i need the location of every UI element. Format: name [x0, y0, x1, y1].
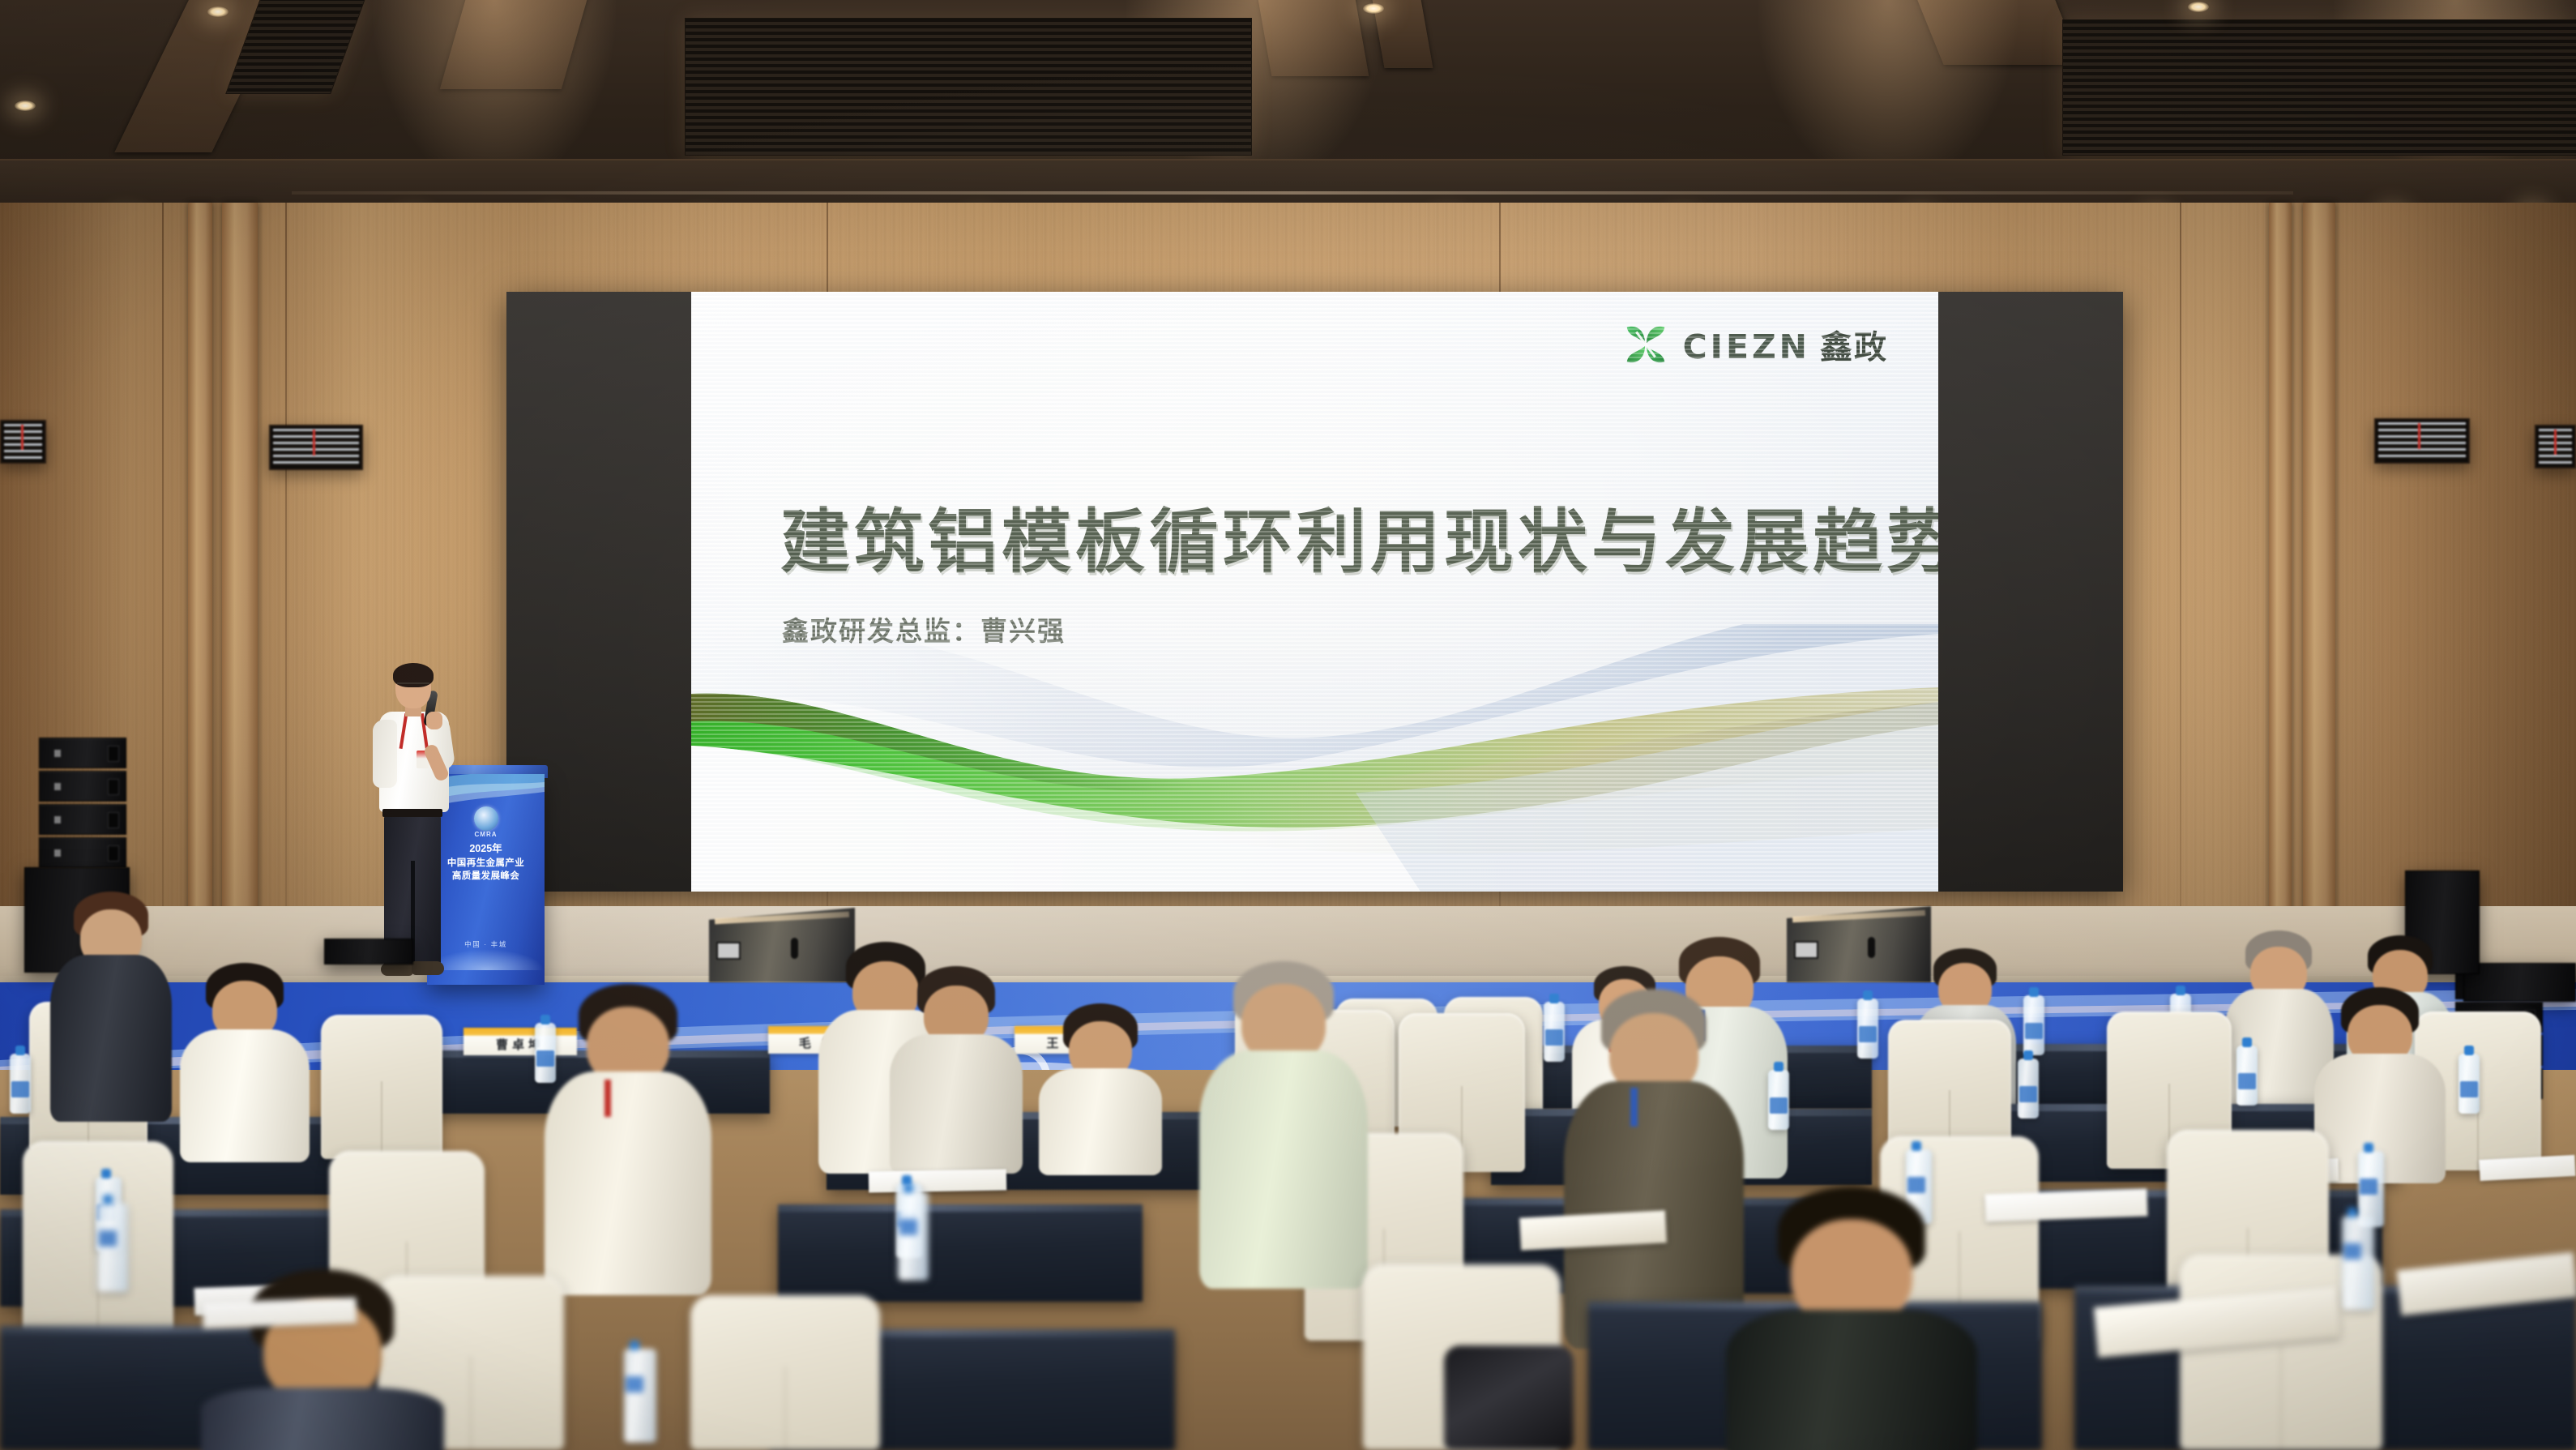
attendee [201, 1269, 444, 1450]
paper-document [1984, 1189, 2147, 1222]
bag [1444, 1345, 1574, 1450]
floor-equipment-case [324, 939, 413, 965]
logo-latin-text: CIEZN [1683, 327, 1810, 366]
water-bottle [2342, 1216, 2374, 1310]
slide-title: 建筑铝模板循环利用现状与发展趋势 [780, 485, 1938, 586]
water-bottle [1544, 1002, 1565, 1062]
attendee [180, 963, 310, 1157]
attendee [1039, 1003, 1162, 1170]
water-bottle [2459, 1054, 2480, 1114]
attendee [1564, 989, 1744, 1345]
attendee [1199, 961, 1368, 1285]
wall-light-box [2535, 425, 2576, 468]
conference-hall-photo: CIEZN 鑫政 建筑铝模板循环利用现状与发展趋势 鑫政研发总监：曹兴强 [0, 0, 2576, 1450]
slide-wave-graphic [691, 624, 1938, 892]
attendee [545, 984, 711, 1292]
slide-subtitle: 鑫政研发总监：曹兴强 [782, 610, 1066, 648]
water-bottle [10, 1054, 31, 1114]
stage-monitor-right [1787, 906, 1931, 982]
water-bottle [1857, 999, 1878, 1059]
wall-light-box [269, 425, 363, 470]
paper-document [869, 1170, 1006, 1193]
attendee [890, 966, 1023, 1169]
wall-pilaster [2269, 203, 2292, 965]
water-bottle [1768, 1070, 1789, 1130]
lanyard [1630, 1088, 1638, 1127]
presentation-slide: CIEZN 鑫政 建筑铝模板循环利用现状与发展趋势 鑫政研发总监：曹兴强 [691, 292, 1938, 892]
lanyard [604, 1080, 611, 1117]
screen-bezel-right [1938, 292, 2123, 892]
glasses-icon [397, 682, 429, 690]
line-array-speaker-left [39, 738, 126, 868]
logo-chinese-text: 鑫政 [1820, 321, 1888, 368]
wall-pilaster [222, 203, 258, 965]
paper-document [202, 1298, 357, 1329]
water-bottle [2236, 1046, 2258, 1106]
presenter-shoe [412, 961, 444, 975]
water-bottle [2018, 1059, 2039, 1119]
ciezn-pinwheel-logo-icon [1621, 319, 1671, 370]
attendee [50, 892, 172, 1119]
chair [690, 1295, 880, 1450]
presenter-shoe [381, 963, 413, 976]
water-bottle [624, 1349, 656, 1443]
wall-pilaster [2303, 203, 2335, 965]
wall-pilaster [188, 203, 212, 965]
slide-logo: CIEZN 鑫政 [1621, 319, 1888, 370]
water-bottle [2023, 995, 2044, 1055]
soffit-light-edge [292, 191, 2293, 195]
chair [321, 1015, 442, 1159]
attendee [2314, 987, 2446, 1178]
podium-org-abbr: CMRA [475, 831, 498, 838]
water-bottle [898, 1191, 929, 1281]
cmra-logo-icon [474, 806, 498, 831]
subwoofer-right [2463, 963, 2576, 1002]
led-screen: CIEZN 鑫政 建筑铝模板循环利用现状与发展趋势 鑫政研发总监：曹兴强 [506, 292, 2123, 892]
table-row [778, 1204, 1143, 1302]
wall-light-box [0, 420, 46, 464]
attendee [1726, 1187, 1977, 1450]
wall-light-box [2374, 418, 2470, 464]
water-bottle [97, 1203, 128, 1292]
